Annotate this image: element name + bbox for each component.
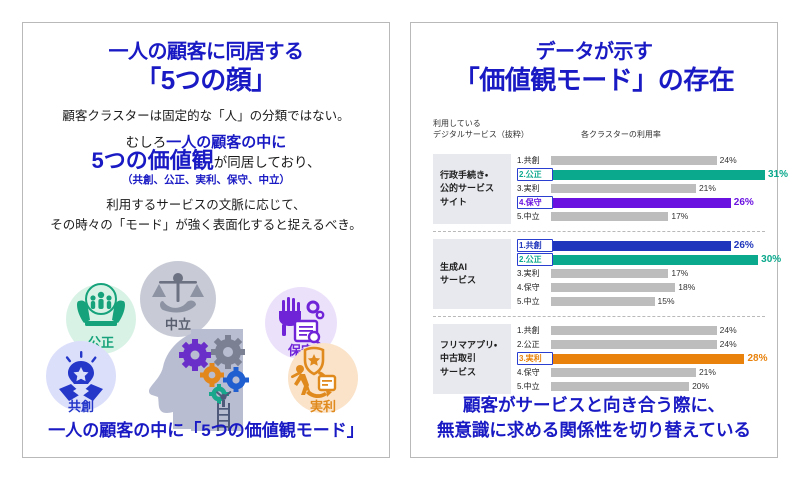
value-modes-illustration: 中立 公正: [23, 251, 389, 431]
group-divider: [433, 231, 765, 232]
chart-group: 行政手続き・公的サービスサイト1.共創24%2.公正31%3.実利21%4.保守…: [433, 154, 765, 224]
service-name-label: フリマアプリ・中古取引サービス: [433, 324, 511, 394]
bar-row: 2.公正24%: [517, 338, 765, 351]
bar-track: 24%: [551, 154, 765, 167]
cluster-label-highlighted: 3.実利: [517, 352, 553, 365]
cluster-label: 4.保守: [517, 282, 551, 293]
cluster-label-highlighted: 1.共創: [517, 239, 553, 252]
chart-group: 生成AIサービス1.共創26%2.公正30%3.実利17%4.保守18%5.中立…: [433, 239, 765, 309]
bar-row: 1.共創26%: [517, 239, 765, 252]
bar-row: 3.実利28%: [517, 352, 765, 365]
bar-value-label: 20%: [692, 380, 709, 393]
bar-value-label: 17%: [671, 210, 688, 223]
bar-value-label: 17%: [671, 267, 688, 280]
bar: [551, 382, 689, 391]
bar-value-label: 24%: [720, 338, 737, 351]
bar-track: 21%: [551, 182, 765, 195]
left-panel: 一人の顧客に同居する 「5つの顔」 顧客クラスターは固定的な「人」の分類ではない…: [22, 22, 390, 458]
service-name-line: フリマアプリ・: [440, 339, 511, 353]
service-name-line: 生成AI: [440, 261, 511, 275]
bar-value-label: 24%: [720, 324, 737, 337]
cluster-label-highlighted: 2.公正: [517, 253, 553, 266]
left-paragraph-line6: その時々の「モード」が強く表面化すると捉えるべき。: [23, 217, 389, 234]
cluster-label-highlighted: 2.公正: [517, 168, 553, 181]
right-heading-line1: データが示す: [411, 39, 777, 65]
bar-value-label: 31%: [768, 168, 788, 181]
bar-value-label: 26%: [734, 239, 754, 252]
bar-value-label: 21%: [699, 182, 716, 195]
right-heading-line2: 「価値観モード」の存在: [411, 65, 777, 96]
left-heading-line1: 一人の顧客に同居する: [23, 39, 389, 65]
cluster-label: 4.保守: [517, 367, 551, 378]
chart-group: フリマアプリ・中古取引サービス1.共創24%2.公正24%3.実利28%4.保守…: [433, 324, 765, 394]
bar-row: 4.保守21%: [517, 366, 765, 379]
bar: [551, 326, 717, 335]
bar: [551, 368, 696, 377]
bar: [551, 184, 696, 193]
service-name-label: 行政手続き・公的サービスサイト: [433, 154, 511, 224]
service-name-line: 行政手続き・: [440, 169, 511, 183]
cluster-label: 2.公正: [517, 339, 551, 350]
bar-track: 30%: [553, 253, 765, 266]
bar-track: 21%: [551, 366, 765, 379]
bar-row: 2.公正30%: [517, 253, 765, 266]
left-bottom-banner: 一人の顧客の中に「5つの価値観モード」: [23, 416, 389, 441]
cluster-label: 1.共創: [517, 325, 551, 336]
bar: [551, 269, 668, 278]
bar-value-label: 26%: [734, 196, 754, 209]
group-divider: [433, 316, 765, 317]
bar-value-label: 30%: [761, 253, 781, 266]
bar-track: 26%: [553, 196, 765, 209]
cluster-label: 3.実利: [517, 183, 551, 194]
bar-track: 15%: [551, 295, 765, 308]
left-heading-line2: 「5つの顔」: [23, 65, 389, 96]
bar-rows: 1.共創26%2.公正30%3.実利17%4.保守18%5.中立15%: [511, 239, 765, 309]
left-paragraph-line3: 5つの価値観が同居しており、: [23, 152, 389, 172]
bar-track: 28%: [553, 352, 765, 365]
bar-track: 17%: [551, 267, 765, 280]
bar: [553, 170, 765, 180]
bar-rows: 1.共創24%2.公正31%3.実利21%4.保守26%5.中立17%: [511, 154, 765, 224]
bar-row: 1.共創24%: [517, 154, 765, 167]
cluster-label: 5.中立: [517, 381, 551, 392]
service-name-line: サービス: [440, 366, 511, 380]
bar-row: 5.中立15%: [517, 295, 765, 308]
right-banner-line2: 無意識に求める関係性を切り替えている: [411, 418, 777, 443]
bar: [553, 354, 744, 364]
usage-rate-chart: 行政手続き・公的サービスサイト1.共創24%2.公正31%3.実利21%4.保守…: [433, 154, 765, 394]
line3-tail: が同居しており、: [214, 155, 321, 170]
services-header-line1: 利用している: [433, 118, 529, 129]
left-paragraph-line1: 顧客クラスターは固定的な「人」の分類ではない。: [23, 108, 389, 125]
kyousou-label: 共創: [68, 399, 94, 414]
bar-row: 5.中立17%: [517, 210, 765, 223]
cluster-label: 1.共創: [517, 155, 551, 166]
services-column-header: 利用している デジタルサービス（抜粋）: [433, 118, 529, 140]
value-mode-chuuritsu: 中立: [140, 261, 216, 337]
cluster-label-highlighted: 4.保守: [517, 196, 553, 209]
value-mode-kyousou: 共創: [46, 341, 116, 414]
bar-row: 3.実利21%: [517, 182, 765, 195]
bar: [551, 283, 675, 292]
cluster-label: 5.中立: [517, 211, 551, 222]
bar-track: 26%: [553, 239, 765, 252]
bar-value-label: 24%: [720, 154, 737, 167]
bar-row: 4.保守18%: [517, 281, 765, 294]
bar: [551, 340, 717, 349]
illustration-svg: 中立 公正: [23, 251, 389, 431]
bar: [553, 198, 731, 208]
cluster-label: 3.実利: [517, 268, 551, 279]
right-bottom-banner: 顧客がサービスと向き合う際に、 無意識に求める関係性を切り替えている: [411, 393, 777, 443]
bar-value-label: 18%: [678, 281, 695, 294]
jitsuri-label: 実利: [310, 399, 336, 414]
bar: [553, 241, 731, 251]
bar: [551, 156, 717, 165]
service-name-line: 公的サービス: [440, 182, 511, 196]
usage-rate-column-header: 各クラスターの利用率: [581, 129, 661, 140]
chuuritsu-label: 中立: [165, 317, 191, 332]
bar-track: 24%: [551, 324, 765, 337]
service-name-line: サービス: [440, 274, 511, 288]
bar: [551, 297, 655, 306]
right-banner-line1: 顧客がサービスと向き合う際に、: [411, 393, 777, 418]
bar-row: 3.実利17%: [517, 267, 765, 280]
bar-value-label: 15%: [658, 295, 675, 308]
bar-row: 5.中立20%: [517, 380, 765, 393]
bar-track: 20%: [551, 380, 765, 393]
gear-gray: [211, 335, 245, 369]
chart-column-headers: 利用している デジタルサービス（抜粋） 各クラスターの利用率: [433, 118, 763, 152]
bar-track: 31%: [553, 168, 765, 181]
bar: [551, 212, 668, 221]
bar-track: 24%: [551, 338, 765, 351]
bar-row: 1.共創24%: [517, 324, 765, 337]
service-name-label: 生成AIサービス: [433, 239, 511, 309]
bar-row: 4.保守26%: [517, 196, 765, 209]
bar-track: 17%: [551, 210, 765, 223]
right-panel: データが示す 「価値観モード」の存在 利用している デジタルサービス（抜粋） 各…: [410, 22, 778, 458]
bar-track: 18%: [551, 281, 765, 294]
bar-rows: 1.共創24%2.公正24%3.実利28%4.保守21%5.中立20%: [511, 324, 765, 394]
service-name-line: サイト: [440, 196, 511, 210]
value-mode-jitsuri: 実利: [288, 343, 358, 414]
cluster-label: 5.中立: [517, 296, 551, 307]
left-paragraph-line4: （共創、公正、実利、保守、中立）: [23, 172, 389, 189]
services-header-line2: デジタルサービス（抜粋）: [433, 129, 529, 140]
bar: [553, 255, 758, 265]
line3-emphasis: 5つの価値観: [92, 148, 214, 173]
bar-value-label: 28%: [747, 352, 767, 365]
left-paragraph-line5: 利用するサービスの文脈に応じて、: [23, 197, 389, 214]
bar-value-label: 21%: [699, 366, 716, 379]
service-name-line: 中古取引: [440, 352, 511, 366]
bar-row: 2.公正31%: [517, 168, 765, 181]
slide-canvas: 一人の顧客に同居する 「5つの顔」 顧客クラスターは固定的な「人」の分類ではない…: [0, 0, 800, 480]
